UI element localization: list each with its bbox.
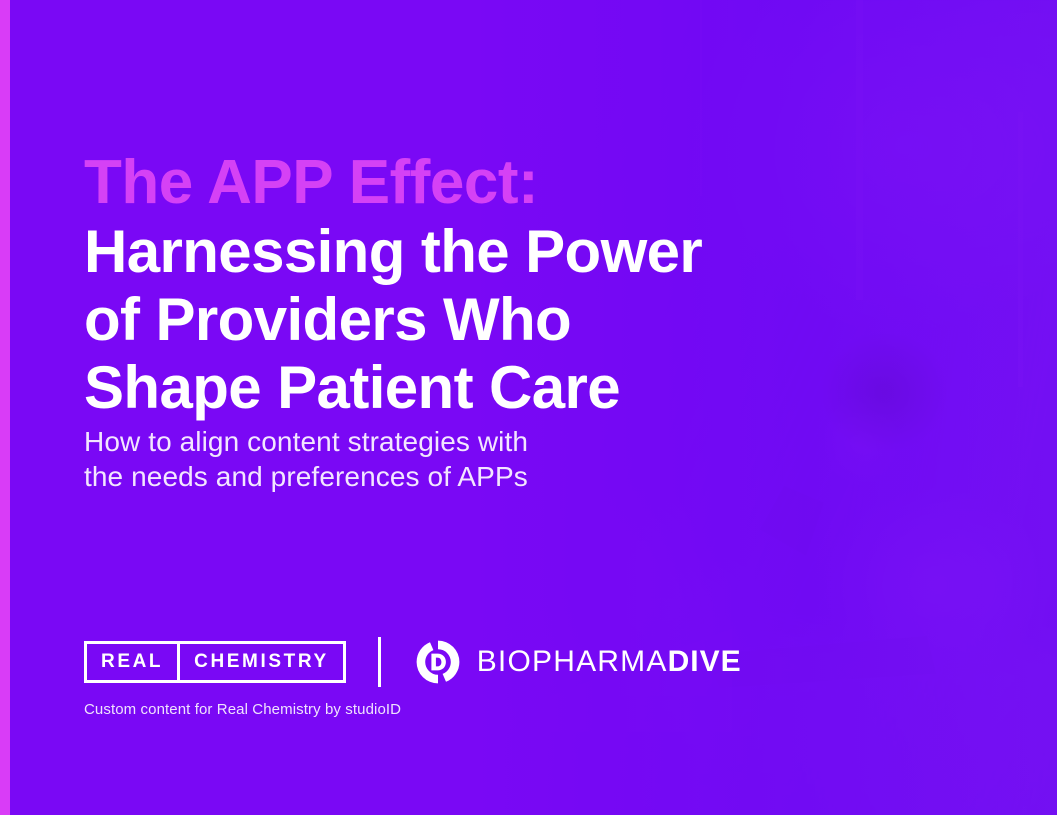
biopharma-dive-word-light: BIOPHARMA: [477, 645, 668, 679]
cover-slide: The APP Effect: Harnessing the Power of …: [0, 0, 1057, 815]
logo-divider: [378, 637, 381, 687]
left-accent-strip: [0, 0, 10, 815]
headline-line-3: Shape Patient Care: [84, 354, 844, 422]
cover-content: The APP Effect: Harnessing the Power of …: [84, 0, 844, 815]
biopharma-dive-circle-d-icon: [415, 639, 461, 685]
subtitle-line-1: How to align content strategies with: [84, 424, 704, 459]
biopharma-dive-wordmark: BIOPHARMA DIVE: [477, 645, 742, 679]
headline-line-1: Harnessing the Power: [84, 218, 844, 286]
real-chemistry-word-chemistry: CHEMISTRY: [177, 644, 343, 680]
real-chemistry-word-real: REAL: [87, 644, 177, 680]
eyebrow-title: The APP Effect:: [84, 150, 538, 215]
credit-line: Custom content for Real Chemistry by stu…: [84, 701, 401, 718]
biopharma-dive-logo: BIOPHARMA DIVE: [415, 639, 742, 685]
biopharma-dive-word-bold: DIVE: [668, 645, 742, 679]
logo-row: REAL CHEMISTRY BIOPHARMA DIVE: [84, 636, 742, 688]
headline-line-2: of Providers Who: [84, 286, 844, 354]
page-title: Harnessing the Power of Providers Who Sh…: [84, 218, 844, 422]
subtitle-line-2: the needs and preferences of APPs: [84, 459, 704, 494]
real-chemistry-logo: REAL CHEMISTRY: [84, 641, 346, 683]
page-subtitle: How to align content strategies with the…: [84, 424, 704, 494]
